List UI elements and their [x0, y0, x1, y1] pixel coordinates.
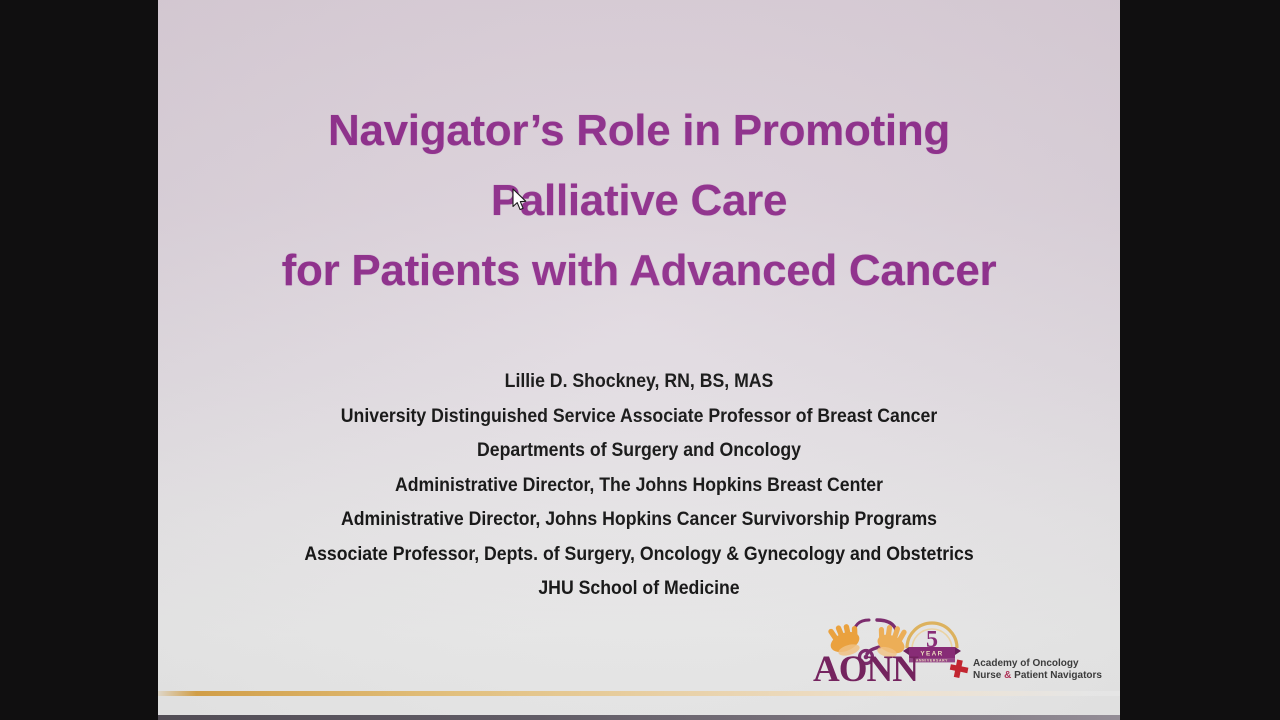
tagline-nurse-text: Nurse — [973, 670, 1001, 681]
title-line-1: Navigator’s Role in Promoting — [176, 96, 1102, 166]
affiliation-line-4: Administrative Director, Johns Hopkins C… — [199, 503, 1079, 538]
affiliation-line-6: JHU School of Medicine — [199, 572, 1079, 607]
tagline-line-1: Academy of Oncology — [973, 658, 1103, 670]
affiliation-line-5: Associate Professor, Depts. of Surgery, … — [199, 538, 1079, 573]
tagline-ampersand: & — [1004, 670, 1011, 681]
affiliation-line-3: Administrative Director, The Johns Hopki… — [199, 469, 1079, 504]
affiliation-line-1: University Distinguished Service Associa… — [199, 400, 1079, 435]
presenter-credentials-block: Lillie D. Shockney, RN, BS, MAS Universi… — [158, 365, 1120, 607]
video-player-frame: Navigator’s Role in Promoting Palliative… — [0, 0, 1280, 720]
red-cross-plus-icon — [949, 658, 971, 680]
tagline-navigators-text: Patient Navigators — [1014, 670, 1102, 681]
footer-band-shadow — [158, 715, 1120, 720]
purple-footer-band — [158, 695, 1120, 716]
aonn-tagline: Academy of Oncology Nurse & Patient Navi… — [973, 658, 1103, 682]
presenter-name: Lillie D. Shockney, RN, BS, MAS — [199, 365, 1079, 400]
title-line-2: Palliative Care — [176, 166, 1102, 236]
title-line-3: for Patients with Advanced Cancer — [176, 236, 1102, 306]
affiliation-line-2: Departments of Surgery and Oncology — [199, 434, 1079, 469]
tagline-line-2: Nurse & Patient Navigators — [973, 670, 1103, 682]
presentation-slide: Navigator’s Role in Promoting Palliative… — [158, 0, 1120, 720]
aonn-logo: 5 YEAR ANNIVERSARY AONN Academy of Oncol… — [813, 616, 1103, 694]
letterbox-right — [1120, 0, 1280, 720]
letterbox-left — [0, 0, 158, 720]
slide-title: Navigator’s Role in Promoting Palliative… — [158, 96, 1120, 306]
